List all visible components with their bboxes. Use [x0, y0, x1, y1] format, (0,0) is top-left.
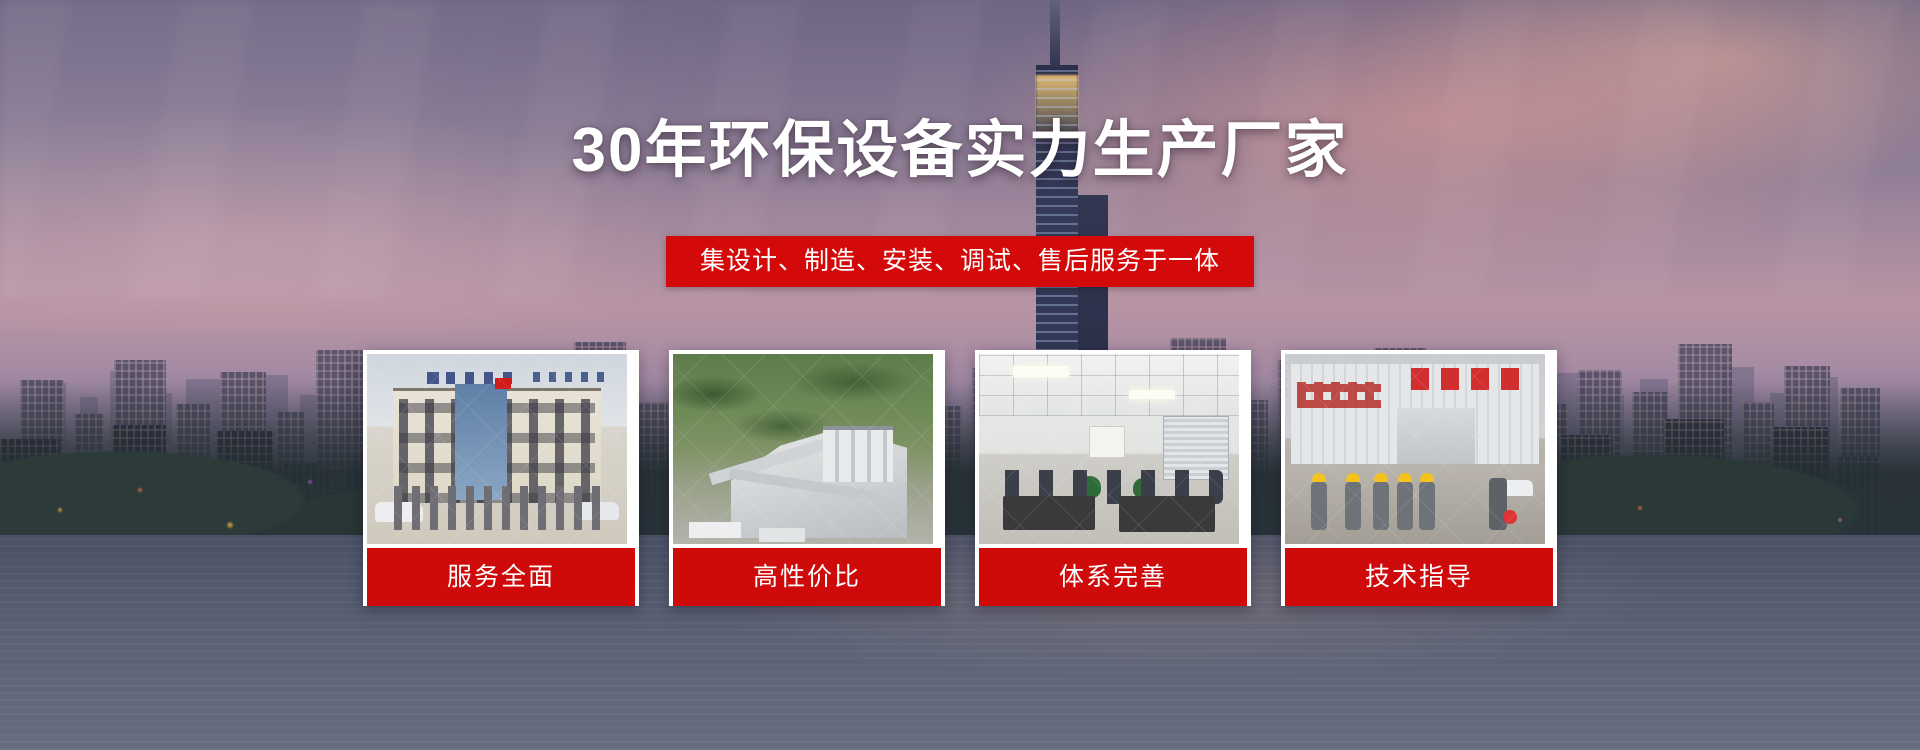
feature-card[interactable]: 技术指导: [1281, 350, 1557, 606]
flag-icon: [495, 378, 511, 389]
card-image-plant-aerial: [673, 354, 933, 544]
feature-card[interactable]: 高性价比: [669, 350, 945, 606]
card-caption: 服务全面: [367, 548, 635, 606]
card-caption: 技术指导: [1285, 548, 1553, 606]
card-image-office-interior: [979, 354, 1239, 544]
subtitle-banner: 集设计、制造、安装、调试、售后服务于一体: [666, 236, 1254, 287]
page-title: 30年环保设备实力生产厂家: [0, 120, 1920, 182]
building-phone-text: [533, 372, 605, 382]
card-image-factory-yard: [1285, 354, 1545, 544]
hero-banner: 30年环保设备实力生产厂家 集设计、制造、安装、调试、售后服务于一体 服务全面: [0, 0, 1920, 750]
safety-helmet-icon: [1503, 510, 1517, 524]
factory-slogan-small: [1297, 382, 1381, 408]
factory-slogan-large: [1411, 368, 1531, 390]
feature-card[interactable]: 服务全面: [363, 350, 639, 606]
feature-card-list: 服务全面 高性价比: [363, 350, 1557, 606]
card-caption: 高性价比: [673, 548, 941, 606]
card-caption: 体系完善: [979, 548, 1247, 606]
feature-card[interactable]: 体系完善: [975, 350, 1251, 606]
card-image-office-building: [367, 354, 627, 544]
